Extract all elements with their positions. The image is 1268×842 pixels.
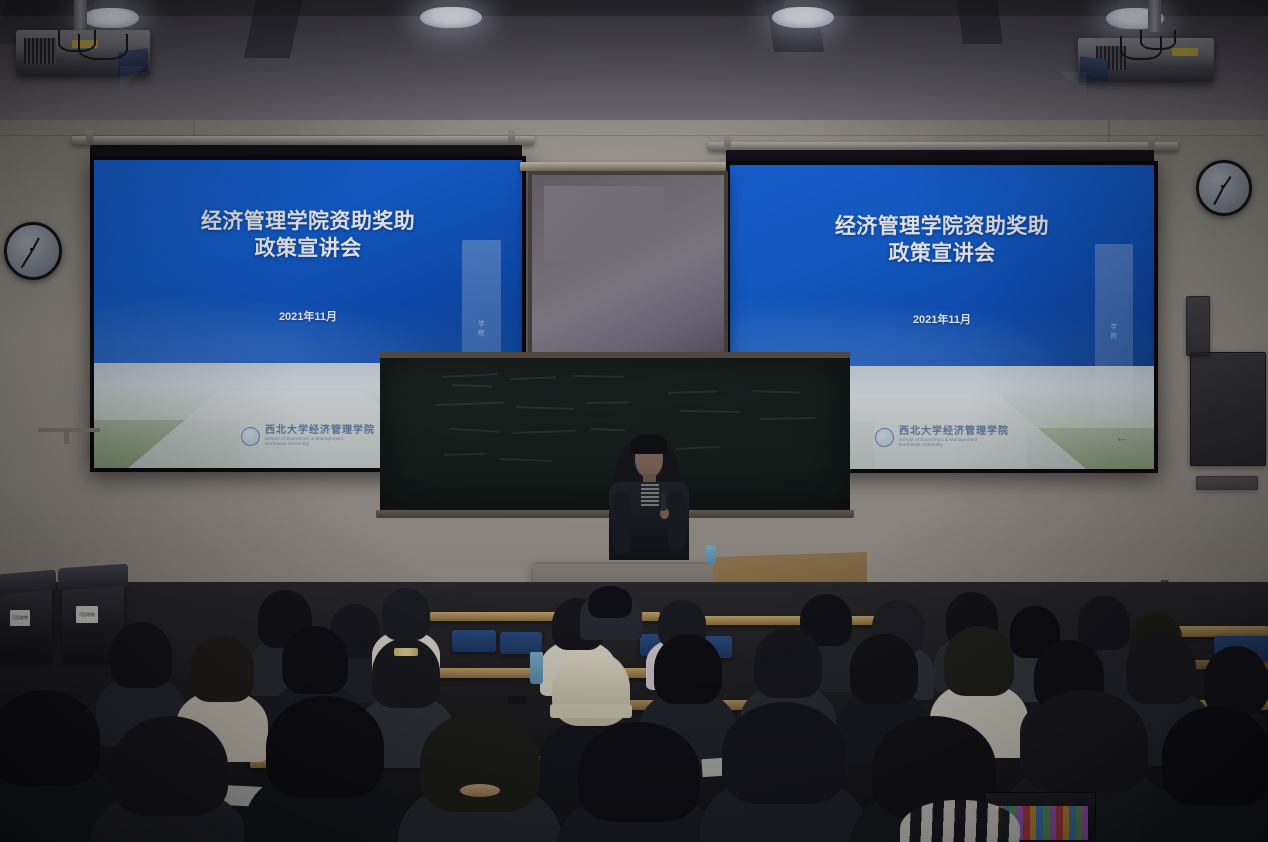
projector-mount-left xyxy=(74,0,87,30)
wall-bracket-left xyxy=(38,428,100,432)
chalk-writing xyxy=(516,406,574,410)
audience-hair xyxy=(1126,632,1196,704)
chalk-writing xyxy=(586,401,630,404)
lecture-hall-scene: 学 院 经济管理学院资助奖助 政策宣讲会 2021年11月 ← 西北大学经济管理… xyxy=(0,0,1268,842)
wall-conduit-box xyxy=(1186,296,1210,356)
ceiling-beam xyxy=(957,0,1002,44)
banner-char: 院 xyxy=(1111,334,1117,340)
audience-hair xyxy=(1162,706,1268,806)
chalk-writing xyxy=(510,376,556,380)
audience-hair xyxy=(266,696,384,798)
slide-title-left: 经济管理学院资助奖助 政策宣讲会 xyxy=(94,209,522,263)
chalk-writing xyxy=(512,430,576,434)
logo-english-line2: Northwest University xyxy=(265,442,375,447)
slide-logo-text: 西北大学经济管理学院 School of Economics & Managem… xyxy=(265,426,375,447)
trash-bin-label-left: 可回收物 xyxy=(10,610,30,626)
slide-logo-text: 西北大学经济管理学院 School of Economics & Managem… xyxy=(899,427,1009,448)
chalk-writing xyxy=(590,428,626,431)
chalk-writing xyxy=(680,410,740,413)
slide-title-line1: 经济管理学院资助奖助 xyxy=(94,209,522,236)
projector-vent xyxy=(24,38,56,64)
ceiling-light xyxy=(83,8,139,28)
chalk-writing xyxy=(572,375,624,378)
speaker-arm-right xyxy=(668,492,685,550)
chair-back xyxy=(500,632,542,654)
center-whiteboard xyxy=(528,171,728,357)
chalk-writing xyxy=(450,428,500,433)
slide-banner-right: 学 院 xyxy=(1095,244,1133,420)
projector-beam-left xyxy=(120,66,146,90)
phone-on-desk xyxy=(508,696,526,704)
audience-hair xyxy=(754,628,822,698)
chalk-writing xyxy=(444,453,486,456)
screen-rail-left xyxy=(72,136,534,145)
logo-chinese-name: 西北大学经济管理学院 xyxy=(265,426,375,437)
microphone[interactable] xyxy=(661,494,666,511)
water-bottle xyxy=(706,545,716,563)
banner-char: 院 xyxy=(478,331,484,337)
wall-bracket-left xyxy=(64,430,69,444)
audience-hair xyxy=(1022,690,1148,794)
projector-cable xyxy=(78,34,128,60)
projector-beam-right xyxy=(1060,72,1086,94)
audience-hair xyxy=(190,636,254,702)
university-seal-icon xyxy=(241,427,260,446)
water-bottle-desk xyxy=(530,652,543,684)
beanie-cuff xyxy=(550,704,632,718)
recycle-label: 可回收物 xyxy=(12,616,28,620)
slide-date-right: 2021年11月 xyxy=(730,311,1154,327)
ceiling-beam xyxy=(0,0,1268,16)
clock-center-pin xyxy=(30,248,33,251)
hair-bun-accessory xyxy=(460,784,500,797)
speaker-inner-top xyxy=(641,484,659,506)
logo-english-line2: Northwest University xyxy=(899,443,1009,448)
audience-hair xyxy=(588,586,632,618)
slide-title-line2: 政策宣讲会 xyxy=(94,236,522,263)
chalk-writing xyxy=(752,390,800,394)
speaker-hair-top xyxy=(631,434,667,454)
audience-hair xyxy=(722,702,846,804)
audience-hair xyxy=(382,588,430,640)
audience-hair xyxy=(944,626,1014,696)
chalk-writing xyxy=(442,373,498,378)
chalk-writing xyxy=(500,458,552,462)
ceiling-light xyxy=(420,7,482,28)
slide-title-line2: 政策宣讲会 xyxy=(730,241,1154,268)
audience-hair xyxy=(654,634,722,704)
clock-minute-hand xyxy=(21,250,33,268)
university-seal-icon xyxy=(875,428,894,447)
ceiling-light xyxy=(772,7,834,28)
slide-title-line1: 经济管理学院资助奖助 xyxy=(730,214,1154,241)
chair-back xyxy=(452,630,496,652)
wall-clock-left xyxy=(4,222,62,280)
slide-title-right: 经济管理学院资助奖助 政策宣讲会 xyxy=(730,214,1154,268)
audience-hair xyxy=(578,722,700,822)
chalk-writing xyxy=(436,402,504,406)
wall-clock-right xyxy=(1196,160,1252,216)
audience-hair xyxy=(110,622,172,688)
wall-control-panel[interactable] xyxy=(1190,352,1266,466)
chalk-writing xyxy=(760,417,816,420)
audience-hair xyxy=(282,626,348,694)
chalk-writing xyxy=(676,446,720,450)
recycle-label: 可回收物 xyxy=(79,613,95,617)
whiteboard-glare xyxy=(544,186,664,260)
audience-hair xyxy=(420,712,540,812)
wall-trim xyxy=(1196,476,1258,490)
projector-cable xyxy=(1140,30,1176,50)
chalk-writing xyxy=(452,384,492,387)
panel-shelf xyxy=(520,162,726,171)
audience-hair xyxy=(850,634,918,704)
projector-label xyxy=(1172,48,1198,56)
audience-hair xyxy=(1078,596,1130,650)
audience-hair xyxy=(0,690,100,786)
slide-date-left: 2021年11月 xyxy=(94,308,522,324)
audience-hair xyxy=(112,716,228,816)
trash-bin-label-right: 可回收物 xyxy=(76,606,98,623)
speaker-arm-left xyxy=(613,492,630,554)
projector-mount-right xyxy=(1148,0,1161,32)
clock-center-pin xyxy=(1221,185,1224,188)
hair-clip xyxy=(394,648,418,656)
clock-minute-hand xyxy=(1213,188,1224,206)
chalk-writing xyxy=(668,390,718,394)
audience-hair xyxy=(1204,646,1268,714)
